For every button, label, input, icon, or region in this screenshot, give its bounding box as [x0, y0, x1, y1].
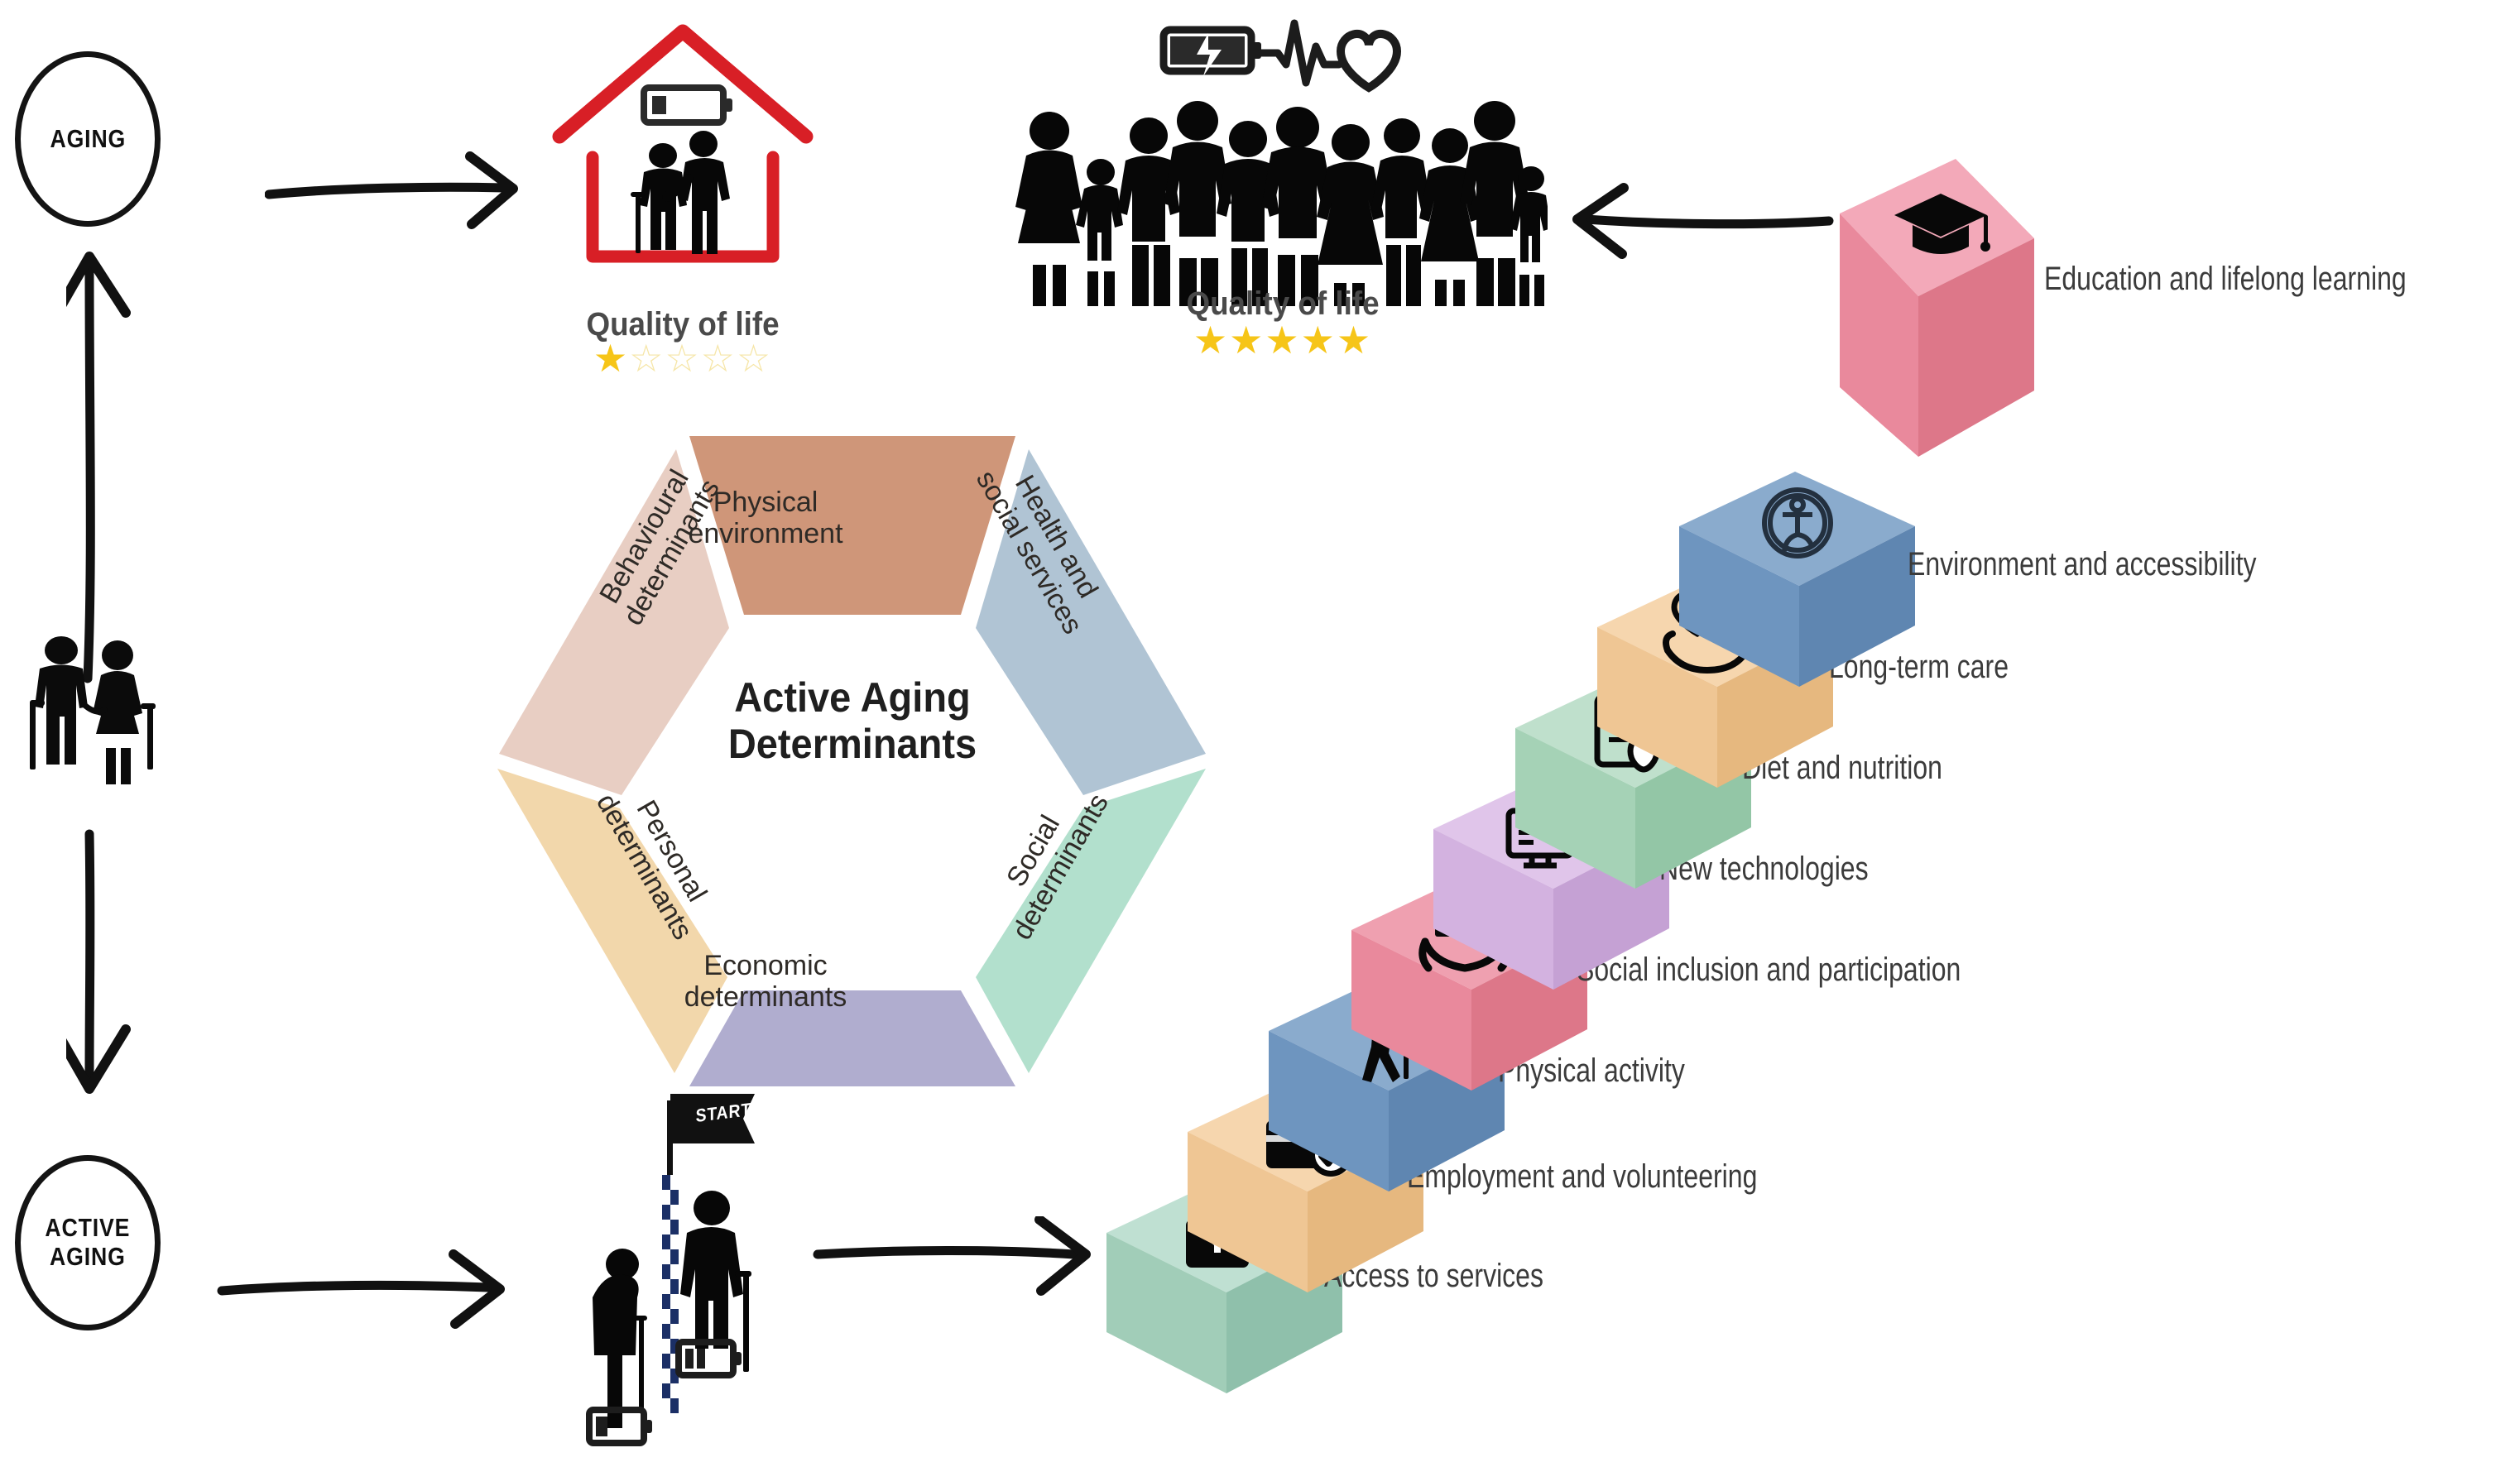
- hunched-elder-with-cane-icon: [593, 1249, 647, 1428]
- quality-of-life-low-stars: ★☆☆☆☆: [530, 339, 836, 377]
- hexagon-center-title: Active Aging Determinants: [697, 674, 1008, 767]
- house-with-elderly-and-caregiver-icon: [546, 17, 819, 306]
- hexagon-center-line1: Active Aging: [734, 674, 971, 721]
- active-aging-node[interactable]: ACTIVE AGING: [15, 1155, 161, 1330]
- arrow-couple-to-active-aging: [66, 827, 232, 1100]
- star-filled: ★: [1229, 319, 1265, 362]
- star-filled: ★: [1193, 319, 1229, 362]
- star-filled: ★: [1337, 319, 1372, 362]
- star-filled: ★: [1265, 319, 1300, 362]
- hexagon-center-line2: Determinants: [728, 721, 977, 767]
- active-aging-node-label: ACTIVE AGING: [46, 1214, 131, 1271]
- star-empty: ☆: [665, 337, 700, 380]
- quality-of-life-high-label: Quality of life: [1069, 285, 1495, 323]
- step-cube-education-and-lifelong-learning[interactable]: [1757, 142, 2038, 490]
- star-empty: ☆: [737, 337, 772, 380]
- active-aging-line1: ACTIVE: [46, 1213, 131, 1242]
- aging-node[interactable]: AGING: [15, 51, 161, 227]
- star-filled: ★: [1301, 319, 1337, 362]
- active-aging-line2: AGING: [50, 1242, 126, 1271]
- step-label-environment-and-accessibility: Environment and accessibility: [1908, 546, 2257, 583]
- star-empty: ☆: [629, 337, 665, 380]
- step-label-education-and-lifelong-learning: Education and lifelong learning: [2044, 261, 2407, 298]
- battery-heartbeat-heart-icon: [1159, 15, 1423, 98]
- quality-of-life-high-stars: ★★★★★: [1051, 321, 1514, 359]
- active-aging-diagram: AGING: [0, 0, 2520, 1467]
- star-filled: ★: [593, 337, 629, 380]
- checkered-start-line: [662, 1175, 679, 1465]
- star-empty: ☆: [701, 337, 737, 380]
- arrow-active-aging-to-start: [215, 1241, 521, 1340]
- arrow-couple-to-aging: [66, 248, 232, 687]
- aging-node-label: AGING: [50, 125, 126, 154]
- arrow-start-to-staircase: [811, 1216, 1101, 1324]
- battery-medium-icon: [679, 1342, 742, 1375]
- crowd-of-people-icon: [1010, 99, 1548, 314]
- elderly-couple-with-canes-icon: [15, 629, 197, 811]
- arrow-aging-to-house: [265, 145, 530, 236]
- start-line-scene: [546, 1076, 819, 1465]
